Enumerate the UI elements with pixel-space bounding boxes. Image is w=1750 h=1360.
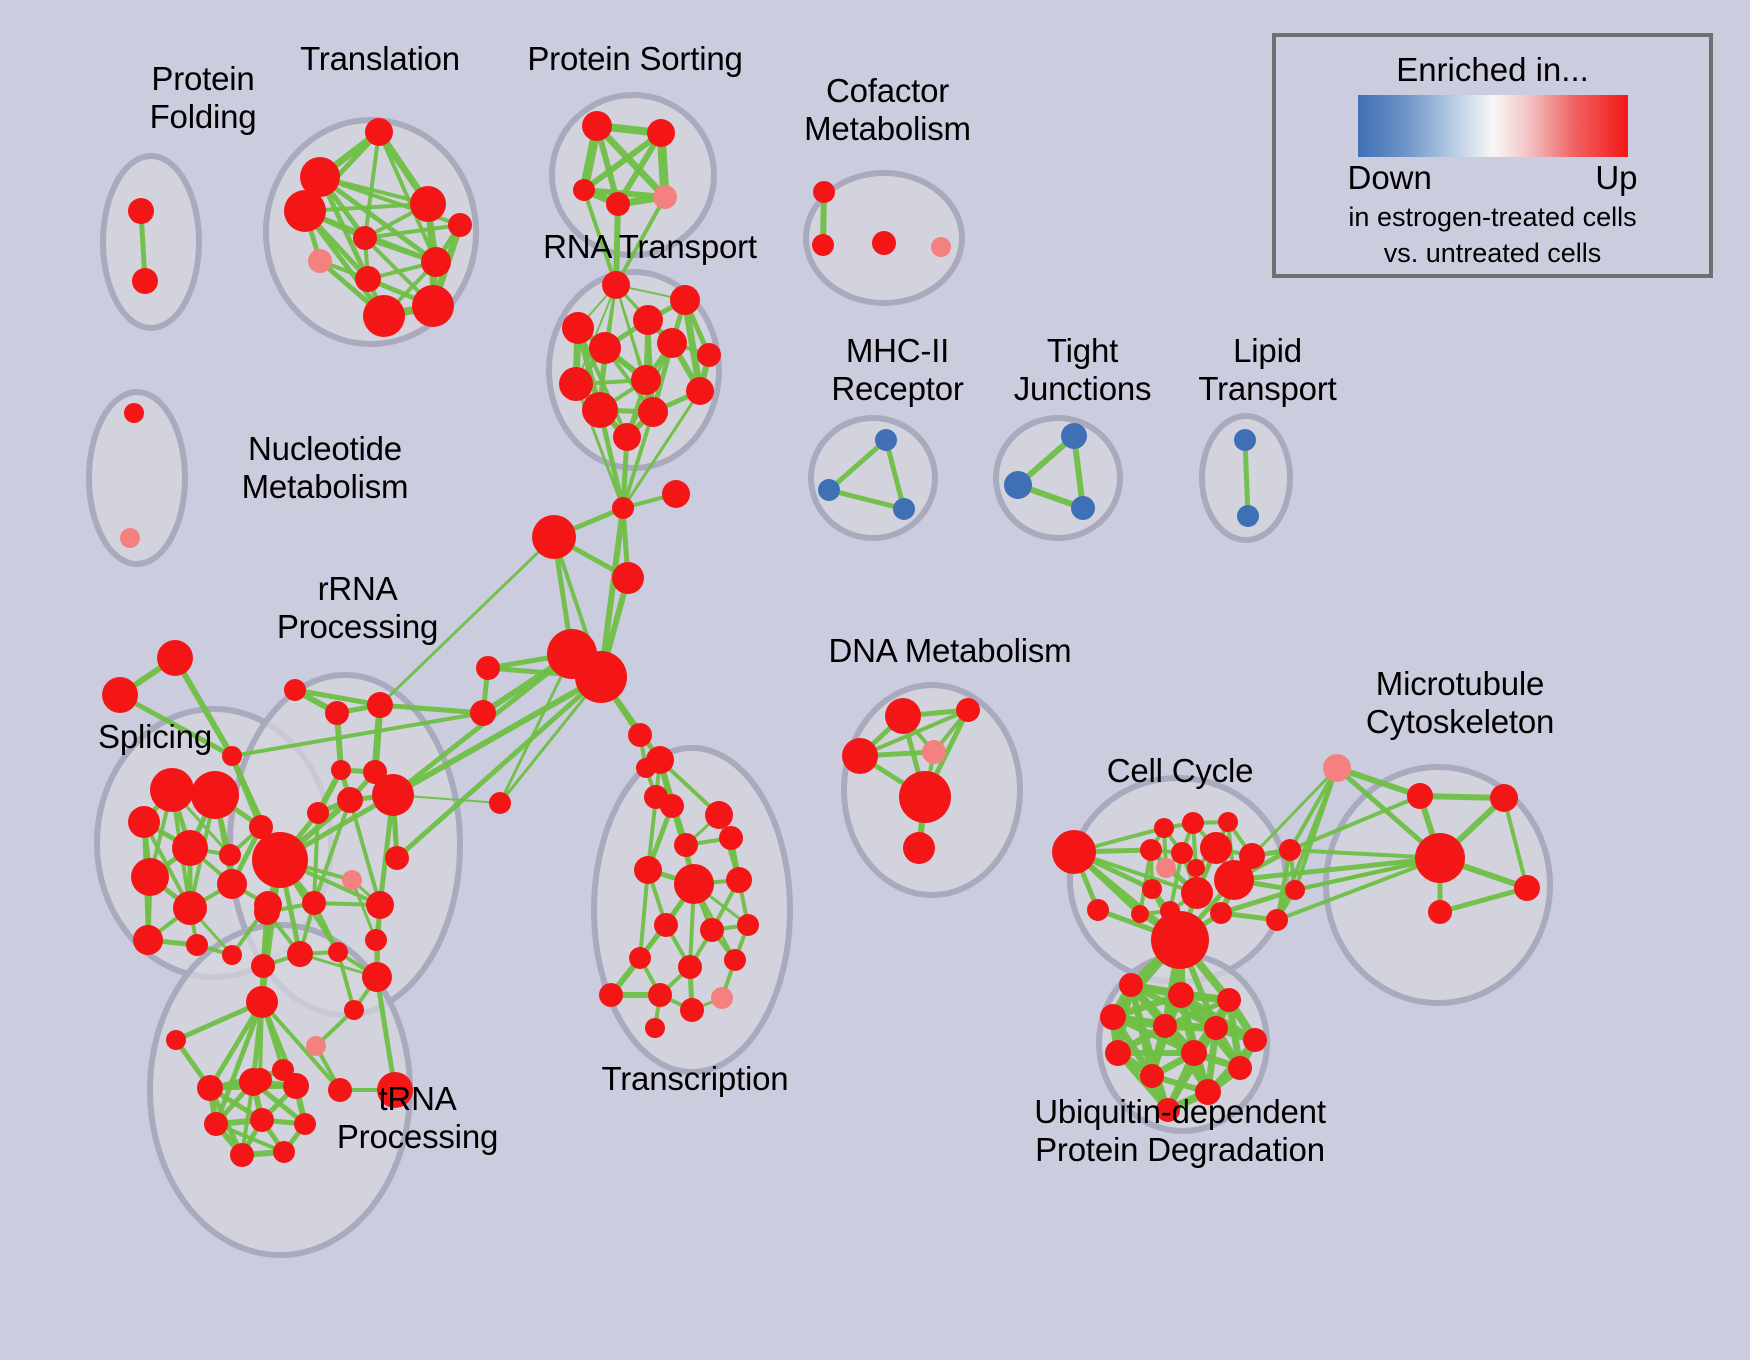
network-node	[589, 332, 621, 364]
network-node	[1154, 818, 1174, 838]
network-node	[273, 1141, 295, 1163]
network-node	[612, 562, 644, 594]
legend-title: Enriched in...	[1276, 51, 1709, 89]
network-node	[1140, 839, 1162, 861]
network-node	[629, 947, 651, 969]
network-node	[252, 832, 308, 888]
network-node	[893, 498, 915, 520]
cluster-label-trna-processing: tRNA Processing	[310, 1080, 525, 1156]
network-node	[246, 986, 278, 1018]
network-node	[573, 179, 595, 201]
cluster-label-nucleotide-metabolism: Nucleotide Metabolism	[200, 430, 450, 506]
network-node	[686, 377, 714, 405]
network-node	[559, 367, 593, 401]
network-node	[818, 479, 840, 501]
network-node	[1323, 754, 1351, 782]
legend-box: Enriched in... Down Up in estrogen-treat…	[1272, 33, 1713, 278]
network-node	[956, 698, 980, 722]
network-node	[875, 429, 897, 451]
network-node	[124, 403, 144, 423]
network-node	[562, 312, 594, 344]
network-node	[657, 328, 687, 358]
network-node	[737, 914, 759, 936]
network-node	[283, 1073, 309, 1099]
network-node	[166, 1030, 186, 1050]
network-node	[1210, 902, 1232, 924]
network-node	[302, 891, 326, 915]
network-node	[1217, 988, 1241, 1012]
network-node	[903, 832, 935, 864]
network-node	[102, 677, 138, 713]
network-node	[219, 844, 241, 866]
cluster-label-cell-cycle: Cell Cycle	[1070, 752, 1290, 790]
network-node	[344, 1000, 364, 1020]
network-node	[1218, 812, 1238, 832]
network-node	[353, 226, 377, 250]
network-node	[899, 771, 951, 823]
cluster-ellipse-mhc-ii-receptor	[811, 418, 935, 538]
network-node	[307, 802, 329, 824]
network-node	[410, 186, 446, 222]
network-node	[678, 955, 702, 979]
network-node	[1237, 505, 1259, 527]
network-node	[1052, 830, 1096, 874]
network-node	[1071, 496, 1095, 520]
network-node	[674, 833, 698, 857]
network-node	[1171, 842, 1193, 864]
network-node	[328, 942, 348, 962]
network-node	[362, 962, 392, 992]
network-node	[670, 285, 700, 315]
legend-down-label: Down	[1348, 159, 1432, 197]
network-node	[680, 998, 704, 1022]
network-node	[612, 497, 634, 519]
network-node	[186, 934, 208, 956]
cluster-label-tight-junctions: Tight Junctions	[975, 332, 1190, 408]
network-node	[1407, 783, 1433, 809]
network-node	[1415, 833, 1465, 883]
network-node	[254, 899, 280, 925]
cluster-label-lipid-transport: Lipid Transport	[1160, 332, 1375, 408]
network-node	[532, 515, 576, 559]
network-node	[700, 918, 724, 942]
network-node	[173, 891, 207, 925]
cluster-label-transcription: Transcription	[560, 1060, 830, 1098]
network-node	[653, 185, 677, 209]
network-node	[1428, 900, 1452, 924]
network-node	[1182, 812, 1204, 834]
cluster-label-ubiquitin-protein-degradation: Ubiquitin-dependent Protein Degradation	[1000, 1093, 1360, 1169]
network-node	[489, 792, 511, 814]
network-node	[1214, 860, 1254, 900]
network-node	[191, 771, 239, 819]
network-node	[885, 698, 921, 734]
cluster-label-mhc-ii-receptor: MHC-II Receptor	[790, 332, 1005, 408]
network-node	[1204, 1016, 1228, 1040]
network-node	[724, 949, 746, 971]
network-node	[1514, 875, 1540, 901]
network-node	[638, 397, 668, 427]
network-node	[476, 656, 500, 680]
network-figure: Protein FoldingTranslationProtein Sortin…	[0, 0, 1750, 1360]
network-node	[606, 192, 630, 216]
network-node	[1100, 1004, 1126, 1030]
network-node	[1228, 1056, 1252, 1080]
network-node	[251, 954, 275, 978]
network-node	[342, 870, 362, 890]
network-node	[1200, 832, 1232, 864]
network-node	[131, 858, 169, 896]
network-node	[648, 983, 672, 1007]
network-node	[1156, 858, 1176, 878]
network-node	[412, 285, 454, 327]
network-node	[363, 295, 405, 337]
network-node	[355, 266, 381, 292]
network-node	[366, 891, 394, 919]
network-node	[128, 806, 160, 838]
network-node	[284, 679, 306, 701]
network-node	[367, 692, 393, 718]
network-node	[599, 983, 623, 1007]
network-node	[633, 305, 663, 335]
network-node	[1266, 909, 1288, 931]
network-node	[325, 701, 349, 725]
network-node	[133, 925, 163, 955]
network-node	[1119, 973, 1143, 997]
network-node	[1142, 879, 1162, 899]
network-node	[132, 268, 158, 294]
network-node	[634, 856, 662, 884]
network-node	[1243, 1028, 1267, 1052]
network-node	[674, 864, 714, 904]
network-node	[230, 1143, 254, 1167]
cluster-label-microtubule-cytoskeleton: Microtubule Cytoskeleton	[1320, 665, 1600, 741]
network-node	[705, 801, 733, 829]
network-node	[217, 869, 247, 899]
network-node	[1181, 1040, 1207, 1066]
network-node	[575, 651, 627, 703]
network-node	[812, 234, 834, 256]
network-node	[654, 913, 678, 937]
network-node	[337, 787, 363, 813]
network-node	[922, 740, 946, 764]
network-node	[365, 118, 393, 146]
network-node	[150, 768, 194, 812]
network-node	[1168, 982, 1194, 1008]
network-edge	[1245, 440, 1248, 516]
network-node	[726, 867, 752, 893]
network-node	[662, 480, 690, 508]
legend-subtitle-line2: vs. untreated cells	[1276, 237, 1709, 269]
network-node	[1153, 1014, 1177, 1038]
cluster-label-cofactor-metabolism: Cofactor Metabolism	[775, 72, 1000, 148]
network-node	[628, 723, 652, 747]
legend-subtitle-line1: in estrogen-treated cells	[1276, 201, 1709, 233]
network-node	[331, 760, 351, 780]
network-node	[172, 830, 208, 866]
network-node	[1234, 429, 1256, 451]
network-node	[1187, 859, 1205, 877]
network-node	[644, 785, 668, 809]
network-node	[306, 1036, 326, 1056]
network-node	[385, 846, 409, 870]
network-node	[157, 640, 193, 676]
network-node	[1279, 839, 1301, 861]
cluster-ellipse-protein-folding	[103, 156, 199, 328]
network-node	[636, 758, 656, 778]
network-node	[222, 945, 242, 965]
network-node	[582, 111, 612, 141]
network-node	[448, 213, 472, 237]
network-node	[719, 826, 743, 850]
network-node	[204, 1112, 228, 1136]
network-node	[1004, 471, 1032, 499]
network-node	[872, 231, 896, 255]
network-node	[813, 181, 835, 203]
network-node	[1131, 905, 1149, 923]
color-gradient-bar	[1358, 95, 1628, 157]
network-node	[711, 987, 733, 1009]
network-node	[287, 941, 313, 967]
network-node	[631, 365, 661, 395]
network-node	[582, 392, 618, 428]
network-node	[365, 929, 387, 951]
network-node	[1181, 877, 1213, 909]
network-node	[602, 271, 630, 299]
network-node	[1490, 784, 1518, 812]
cluster-label-dna-metabolism: DNA Metabolism	[810, 632, 1090, 670]
cluster-label-rna-transport: RNA Transport	[510, 228, 790, 266]
network-node	[120, 528, 140, 548]
network-node	[613, 423, 641, 451]
network-node	[647, 119, 675, 147]
network-node	[697, 343, 721, 367]
network-node	[1087, 899, 1109, 921]
network-node	[308, 249, 332, 273]
network-node	[1285, 880, 1305, 900]
cluster-label-rrna-processing: rRNA Processing	[250, 570, 465, 646]
network-node	[1105, 1040, 1131, 1066]
network-node	[931, 237, 951, 257]
network-node	[470, 700, 496, 726]
legend-up-label: Up	[1595, 159, 1637, 197]
network-node	[645, 1018, 665, 1038]
network-node	[372, 774, 414, 816]
network-node	[250, 1108, 274, 1132]
network-node	[1140, 1064, 1164, 1088]
network-node	[421, 247, 451, 277]
network-node	[197, 1075, 223, 1101]
network-node	[239, 1068, 267, 1096]
cluster-label-splicing: Splicing	[60, 718, 250, 756]
network-node	[1061, 423, 1087, 449]
network-node	[284, 190, 326, 232]
cluster-label-protein-sorting: Protein Sorting	[490, 40, 780, 78]
cluster-label-translation: Translation	[250, 40, 510, 78]
network-node	[128, 198, 154, 224]
network-node	[842, 738, 878, 774]
network-node	[1151, 911, 1209, 969]
